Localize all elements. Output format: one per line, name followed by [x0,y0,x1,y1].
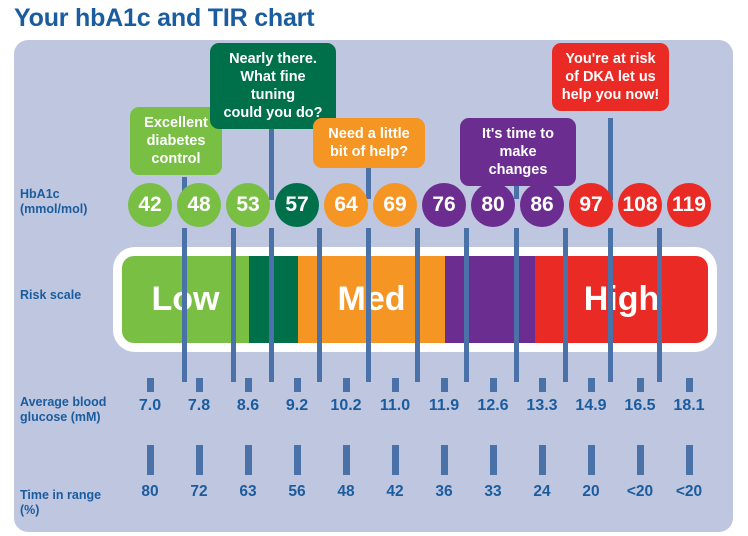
tick-tir-7 [490,445,497,475]
tick-abg-0 [147,378,154,392]
hba1c-circle-42: 42 [128,183,172,227]
column-guide-line-6 [464,228,469,382]
tick-abg-11 [686,378,693,392]
row-label-hba1c: HbA1c (mmol/mol) [20,187,87,216]
tick-tir-5 [392,445,399,475]
hba1c-circle-48: 48 [177,183,221,227]
page-title: Your hbA1c and TIR chart [14,4,314,33]
average-blood-glucose-value-11: 18.1 [660,397,718,415]
hba1c-circle-57: 57 [275,183,319,227]
hba1c-circle-86: 86 [520,183,564,227]
tick-abg-5 [392,378,399,392]
row-label-time-in-range: Time in range (%) [20,488,101,517]
tick-abg-7 [490,378,497,392]
column-guide-line-3 [317,228,322,382]
column-guide-line-0 [182,228,187,382]
callout-0: Excellent diabetes control [130,107,222,175]
tick-tir-2 [245,445,252,475]
risk-segment-3 [445,256,535,343]
tick-tir-8 [539,445,546,475]
tick-tir-9 [588,445,595,475]
hba1c-circle-97: 97 [569,183,613,227]
time-in-range-value-11: <20 [660,483,718,501]
hba1c-circle-53: 53 [226,183,270,227]
column-guide-line-9 [608,228,613,382]
tick-abg-6 [441,378,448,392]
hba1c-circle-69: 69 [373,183,417,227]
column-guide-line-4 [366,228,371,382]
hba1c-circle-76: 76 [422,183,466,227]
callout-4: You're at risk of DKA let us help you no… [552,43,669,111]
row-label-risk-scale: Risk scale [20,288,81,303]
tick-tir-10 [637,445,644,475]
tick-abg-2 [245,378,252,392]
tick-abg-1 [196,378,203,392]
hba1c-circle-80: 80 [471,183,515,227]
column-guide-line-7 [514,228,519,382]
tick-abg-3 [294,378,301,392]
tick-tir-3 [294,445,301,475]
tick-abg-9 [588,378,595,392]
callout-stem-2 [366,166,371,199]
tick-tir-6 [441,445,448,475]
callout-1: Nearly there. What fine tuning could you… [210,43,336,129]
callout-stem-1 [269,118,274,200]
callout-stem-4 [608,118,613,200]
tick-abg-8 [539,378,546,392]
column-guide-line-8 [563,228,568,382]
callout-2: Need a little bit of help? [313,118,425,168]
hba1c-circle-119: 119 [667,183,711,227]
chart-root: Your hbA1c and TIR chart HbA1c (mmol/mol… [0,0,748,536]
tick-abg-4 [343,378,350,392]
column-guide-line-2 [269,228,274,382]
hba1c-circle-64: 64 [324,183,368,227]
hba1c-circle-108: 108 [618,183,662,227]
tick-tir-0 [147,445,154,475]
risk-segment-high: High [535,256,708,343]
tick-abg-10 [637,378,644,392]
column-guide-line-10 [657,228,662,382]
row-label-average-blood-glucose: Average blood glucose (mM) [20,395,106,424]
tick-tir-11 [686,445,693,475]
tick-tir-1 [196,445,203,475]
column-guide-line-5 [415,228,420,382]
tick-tir-4 [343,445,350,475]
column-guide-line-1 [231,228,236,382]
callout-3: It's time to make changes [460,118,576,186]
